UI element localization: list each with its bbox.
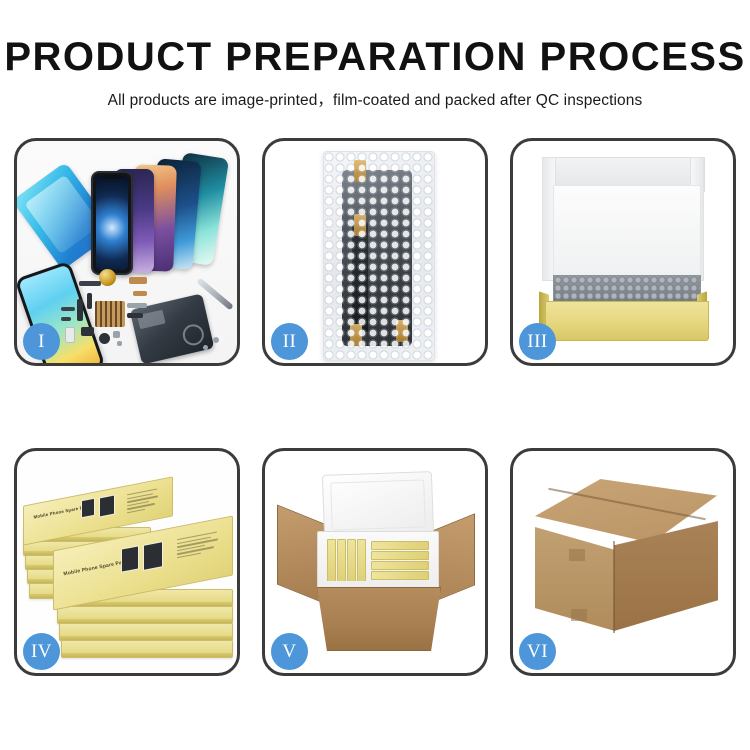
screw-icon — [213, 337, 219, 343]
inner-yellow-box — [371, 541, 429, 550]
gold-tab-icon — [396, 320, 408, 342]
yellow-box-front-icon — [545, 301, 709, 341]
step-badge-6: VI — [519, 633, 556, 670]
spare-part-icon — [61, 307, 75, 311]
bubble-wrap-bag-icon — [323, 151, 435, 361]
inner-boxes-group — [325, 539, 429, 581]
gold-tab-icon — [354, 160, 366, 182]
step-badge-2: II — [271, 323, 308, 360]
spare-part-icon — [79, 281, 101, 286]
step-panel-6: VI — [510, 448, 736, 676]
carton-tape-icon — [571, 609, 587, 621]
spare-part-icon — [61, 317, 71, 321]
screw-icon — [113, 331, 120, 338]
phone-fan-group — [89, 155, 237, 281]
step-panel-2: II — [262, 138, 488, 366]
stacked-box — [57, 606, 233, 624]
box-label-screen-icon — [121, 545, 139, 572]
page-title: PRODUCT PREPARATION PROCESS — [0, 36, 750, 78]
stacked-box — [59, 623, 233, 641]
inner-yellow-box — [337, 539, 346, 581]
spare-part-icon — [87, 293, 92, 309]
header: PRODUCT PREPARATION PROCESS All products… — [0, 0, 750, 110]
spare-part-icon — [127, 303, 147, 308]
phone-display-icon — [91, 171, 133, 275]
spare-part-icon — [129, 277, 147, 284]
box-label-screen-icon — [99, 494, 115, 517]
inner-yellow-box — [357, 539, 366, 581]
screw-icon — [117, 341, 122, 346]
screw-icon — [203, 345, 208, 350]
step-badge-1: I — [23, 323, 60, 360]
gold-tab-icon — [354, 214, 366, 236]
product-preparation-infographic: PRODUCT PREPARATION PROCESS All products… — [0, 0, 750, 750]
inner-yellow-box — [371, 571, 429, 580]
spare-part-icon — [127, 313, 143, 318]
flex-cable-icon — [352, 222, 368, 332]
step-panel-5: V — [262, 448, 488, 676]
box-label-screen-icon — [81, 498, 95, 519]
step-badge-5: V — [271, 633, 308, 670]
carton-tape-icon — [569, 549, 585, 561]
carton-edge-icon — [613, 541, 615, 633]
steps-grid: I II — [14, 138, 736, 676]
inner-yellow-box — [347, 539, 356, 581]
step-badge-3: III — [519, 323, 556, 360]
copper-coil-icon — [99, 269, 116, 286]
foam-sheet-icon — [553, 185, 701, 277]
step-panel-3: III — [510, 138, 736, 366]
inner-yellow-box — [371, 551, 429, 560]
step-panel-4: Mobile Phone Spare Parts Mobile Phone Sp… — [14, 448, 240, 676]
box-label-screen-icon — [143, 541, 163, 571]
inner-yellow-box — [371, 561, 429, 570]
inner-yellow-box — [327, 539, 336, 581]
step-badge-4: IV — [23, 633, 60, 670]
foam-lid-icon — [322, 471, 434, 539]
step-panel-1: I — [14, 138, 240, 366]
spare-part-icon — [65, 327, 75, 343]
spare-part-icon — [133, 291, 147, 296]
stacked-box — [61, 640, 233, 658]
page-subtitle: All products are image-printed，film-coat… — [0, 88, 750, 110]
spare-part-icon — [81, 327, 94, 336]
spare-part-icon — [77, 299, 83, 321]
connector-grid-icon — [95, 301, 125, 327]
gold-tab-icon — [350, 324, 362, 346]
spare-part-icon — [99, 333, 110, 344]
phone-notch-icon — [104, 175, 120, 179]
carton-front-icon — [317, 587, 441, 651]
